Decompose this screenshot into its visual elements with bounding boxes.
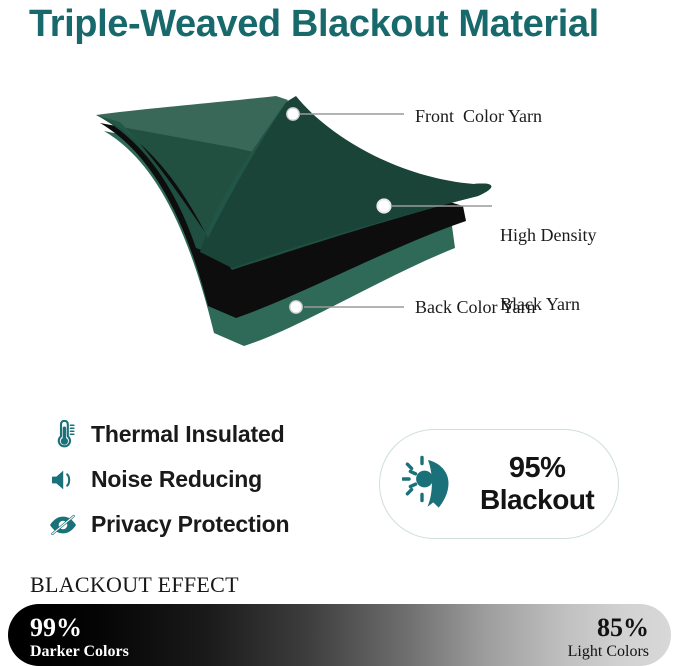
right-percent: 85% bbox=[568, 614, 649, 642]
feature-list: Thermal Insulated Noise Reducing Pri bbox=[48, 412, 358, 547]
blackout-effect-left-value: 99% Darker Colors bbox=[30, 614, 129, 660]
sun-blocked-by-curtain-icon bbox=[402, 453, 464, 515]
callout-label-high-density-black-yarn: High Density Black Yarn bbox=[500, 178, 597, 362]
blackout-percentage-badge: 95% Blackout bbox=[379, 429, 619, 539]
blackout-effect-heading: BLACKOUT EFFECT bbox=[30, 572, 239, 598]
product-feature-infographic: Triple-Weaved Blackout Material bbox=[0, 0, 679, 656]
right-caption: Light Colors bbox=[568, 643, 649, 660]
feature-row-thermal-insulated: Thermal Insulated bbox=[48, 412, 358, 457]
page-title: Triple-Weaved Blackout Material bbox=[29, 2, 657, 46]
left-caption: Darker Colors bbox=[30, 643, 129, 660]
badge-text: 95% Blackout bbox=[480, 453, 594, 515]
fabric-layers-diagram: Front Color Yarn High Density Black Yarn… bbox=[0, 78, 679, 353]
left-percent: 99% bbox=[30, 614, 129, 642]
callout-label-line-1: High Density bbox=[500, 224, 597, 247]
callout-label-back-color-yarn: Back Color Yarn bbox=[415, 296, 536, 319]
eye-slash-icon bbox=[48, 509, 78, 541]
blackout-effect-gradient-bar: 99% Darker Colors 85% Light Colors bbox=[8, 604, 671, 666]
feature-label-privacy-protection: Privacy Protection bbox=[91, 511, 289, 538]
badge-word: Blackout bbox=[480, 484, 594, 515]
feature-label-thermal-insulated: Thermal Insulated bbox=[91, 421, 284, 448]
callout-label-front-color-yarn: Front Color Yarn bbox=[415, 105, 542, 128]
speaker-sound-icon bbox=[48, 464, 78, 496]
badge-percent: 95% bbox=[480, 453, 594, 484]
thermometer-icon bbox=[48, 419, 78, 451]
feature-label-noise-reducing: Noise Reducing bbox=[91, 466, 262, 493]
feature-row-privacy-protection: Privacy Protection bbox=[48, 502, 358, 547]
feature-row-noise-reducing: Noise Reducing bbox=[48, 457, 358, 502]
blackout-effect-right-value: 85% Light Colors bbox=[568, 614, 649, 660]
